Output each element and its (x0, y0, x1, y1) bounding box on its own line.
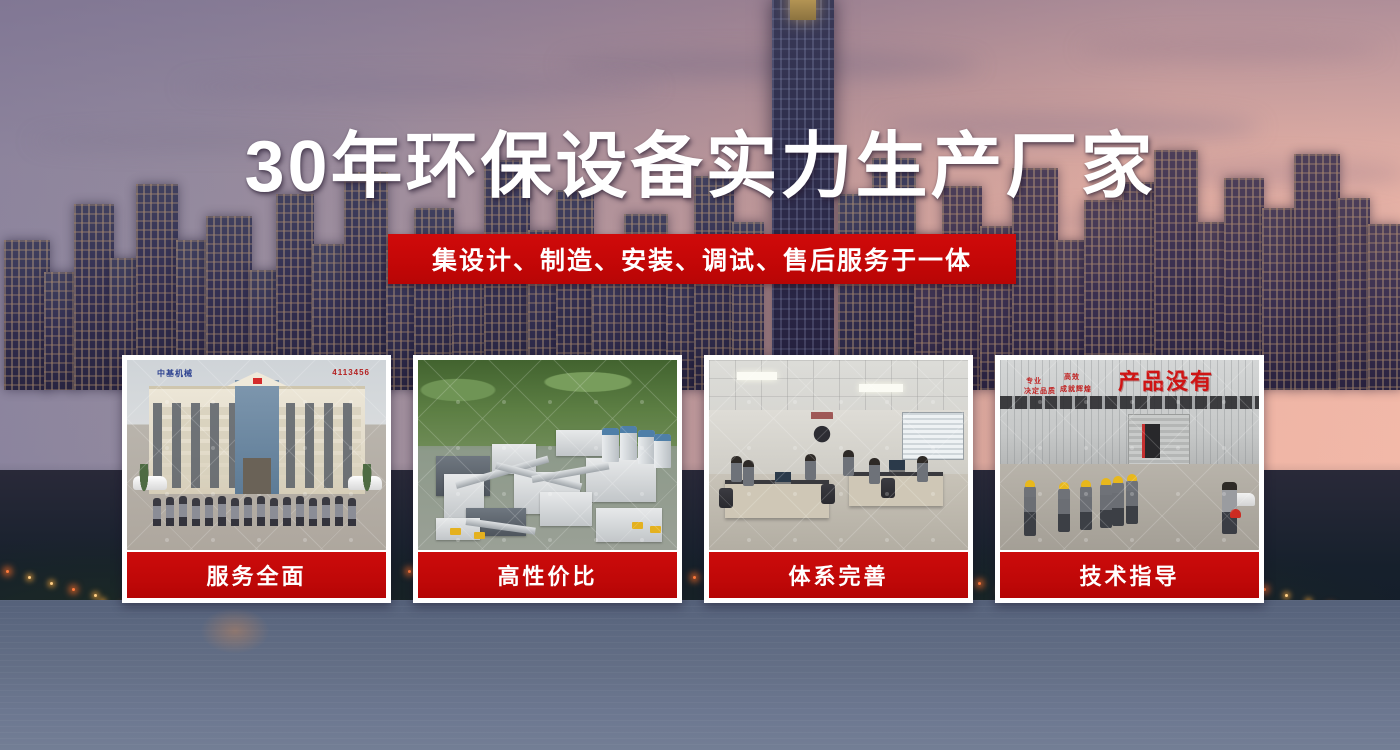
staff-member (335, 496, 343, 526)
plant-building (556, 430, 608, 456)
plant-structures (436, 422, 664, 540)
feature-card[interactable]: 高性价比 (413, 355, 682, 603)
building (44, 272, 78, 390)
worker (1126, 480, 1138, 524)
worker (1058, 488, 1070, 532)
feature-card[interactable]: 中基机械 4113456 服务全面 (122, 355, 391, 603)
watermark-dot (349, 538, 353, 542)
factory-slogan: 成就辉煌 (1060, 384, 1092, 394)
card-caption: 高性价比 (418, 552, 677, 598)
card-photo-factory-workers: 产品没有 专业 高效 决定品质 成就辉煌 (1000, 360, 1259, 550)
tree (362, 464, 372, 494)
card-photo-company-building: 中基机械 4113456 (127, 360, 386, 550)
office-worker (731, 456, 742, 482)
feature-card[interactable]: 体系完善 (704, 355, 973, 603)
chair (881, 478, 895, 498)
subtitle-text: 集设计、制造、安装、调试、售后服务于一体 (432, 241, 972, 277)
staff-member (322, 497, 330, 526)
staff-member (257, 496, 265, 526)
flag-icon (253, 378, 262, 384)
chair (821, 484, 835, 504)
storage-silo (654, 434, 671, 468)
plant-building (540, 492, 592, 526)
desk (725, 480, 829, 518)
watermark-dot (257, 538, 261, 542)
building-phone-text: 4113456 (332, 368, 370, 377)
staff-member (296, 496, 304, 526)
ceiling-light (737, 372, 777, 380)
excavator (650, 526, 661, 533)
water-reflection (200, 608, 270, 654)
page-title: 30年环保设备实力生产厂家 (0, 131, 1400, 203)
shore-light (6, 570, 9, 573)
ceiling-light (859, 384, 903, 392)
card-photo-industrial-plant (418, 360, 677, 550)
card-caption-text: 高性价比 (497, 559, 597, 591)
watermark-dot (303, 538, 307, 542)
factory-slogan: 决定品质 (1024, 386, 1056, 396)
card-caption: 服务全面 (127, 552, 386, 598)
subtitle-banner: 集设计、制造、安装、调试、售后服务于一体 (388, 234, 1016, 284)
worker (1024, 486, 1036, 536)
office-worker (843, 450, 854, 476)
factory-slogan: 高效 (1064, 372, 1080, 382)
card-caption-text: 服务全面 (206, 559, 306, 591)
river-water (0, 600, 1400, 750)
card-caption-text: 技术指导 (1079, 559, 1179, 591)
feature-card[interactable]: 产品没有 专业 高效 决定品质 成就辉煌 (995, 355, 1264, 603)
worker (1112, 482, 1124, 526)
ceiling (709, 360, 968, 416)
staff-member (348, 498, 356, 526)
monitor (775, 472, 791, 484)
staff-lineup (153, 486, 363, 526)
watermark-dot (211, 538, 215, 542)
staff-member (231, 498, 239, 526)
shore-light (28, 576, 31, 579)
staff-member (205, 497, 213, 526)
window-blinds (902, 412, 964, 460)
shore-light (1285, 594, 1288, 597)
feature-card-list: 中基机械 4113456 服务全面 高性价比 (122, 355, 1278, 603)
office-worker (805, 454, 816, 480)
factory-door (1142, 424, 1160, 458)
excavator (474, 532, 485, 539)
shore-light (50, 582, 53, 585)
desk (849, 472, 943, 506)
tree (139, 464, 149, 494)
storage-silo (638, 430, 655, 464)
staff-member (283, 497, 291, 526)
staff-member (166, 497, 174, 526)
office-worker (743, 460, 754, 486)
card-caption-text: 体系完善 (788, 559, 888, 591)
building (74, 204, 114, 390)
factory-sign-text: 产品没有 (1118, 364, 1214, 396)
staff-member (153, 498, 161, 526)
red-helmet-icon (1230, 509, 1241, 518)
shore-light (94, 594, 97, 597)
staff-member (270, 498, 278, 526)
storage-silo (620, 426, 637, 460)
staff-member (179, 496, 187, 526)
worker (1100, 484, 1112, 528)
building (1368, 224, 1400, 390)
shore-light (72, 588, 75, 591)
factory-slogan: 专业 (1026, 376, 1042, 386)
wall-logo-icon (805, 418, 839, 444)
staff-member (192, 498, 200, 526)
plant-building (596, 508, 662, 542)
building (1338, 198, 1370, 390)
storage-silo (602, 428, 619, 462)
supervisor (1222, 482, 1237, 534)
card-caption: 体系完善 (709, 552, 968, 598)
worker (1080, 486, 1092, 530)
office-worker (917, 456, 928, 482)
staff-member (309, 498, 317, 526)
building-sign-text: 中基机械 (157, 368, 193, 379)
chair (719, 488, 733, 508)
office-worker (869, 458, 880, 484)
tower-crown (790, 0, 816, 20)
card-caption: 技术指导 (1000, 552, 1259, 598)
promo-banner: 30年环保设备实力生产厂家 集设计、制造、安装、调试、售后服务于一体 中基机械 … (0, 0, 1400, 750)
card-photo-office-interior (709, 360, 968, 550)
staff-member (244, 497, 252, 526)
watermark-dot (165, 538, 169, 542)
monitor (889, 460, 905, 472)
staff-member (218, 496, 226, 526)
excavator (632, 522, 643, 529)
excavator (450, 528, 461, 535)
factory-window-band (1000, 396, 1259, 409)
